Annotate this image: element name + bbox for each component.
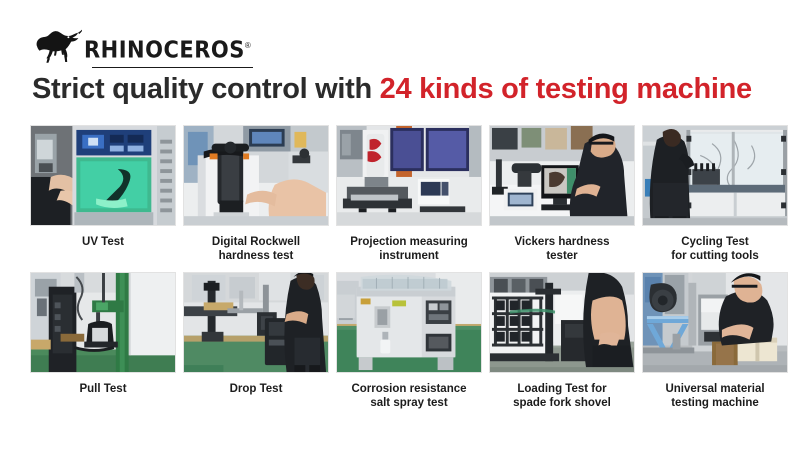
cycling-test-machine-photo [642, 125, 788, 226]
loading-test-rig-photo [489, 272, 635, 373]
grid-item-uv-test: UV Test [30, 125, 176, 263]
grid-item-caption: Vickers hardnesstester [487, 235, 637, 263]
vickers-hardness-tester-photo [489, 125, 635, 226]
pull-test-machine-photo [30, 272, 176, 373]
slide-root: RHINOCEROS® Strict quality control with … [0, 0, 800, 450]
grid-item-caption: Corrosion resistancesalt spray test [334, 382, 484, 410]
grid-item-universal: Universal materialtesting machine [642, 272, 788, 410]
brand-logo: RHINOCEROS® [30, 22, 251, 66]
grid-item-drop-test: Drop Test [183, 272, 329, 410]
grid-row: UV Test [30, 125, 774, 263]
universal-material-testing-machine-photo [642, 272, 788, 373]
grid-item-loading-test: Loading Test forspade fork shovel [489, 272, 635, 410]
logo-underline [92, 67, 253, 69]
grid-item-caption: Digital Rockwellhardness test [181, 235, 331, 263]
testing-machine-grid: UV Test [30, 125, 774, 410]
digital-rockwell-hardness-tester-photo [183, 125, 329, 226]
page-title: Strict quality control with 24 kinds of … [32, 72, 772, 106]
grid-item-vickers: Vickers hardnesstester [489, 125, 635, 263]
registered-mark: ® [245, 41, 251, 50]
grid-item-salt-spray: Corrosion resistancesalt spray test [336, 272, 482, 410]
grid-item-caption: Universal materialtesting machine [640, 382, 790, 410]
drop-test-machine-photo [183, 272, 329, 373]
grid-item-caption: Pull Test [28, 382, 178, 396]
grid-item-rockwell: Digital Rockwellhardness test [183, 125, 329, 263]
grid-item-caption: Cycling Testfor cutting tools [640, 235, 790, 263]
grid-item-caption: Drop Test [181, 382, 331, 396]
grid-row: Pull Test [30, 272, 774, 410]
grid-item-projection: Projection measuringinstrument [336, 125, 482, 263]
uv-test-chamber-photo [30, 125, 176, 226]
salt-spray-chamber-photo [336, 272, 482, 373]
grid-item-caption: Loading Test forspade fork shovel [487, 382, 637, 410]
grid-item-caption: Projection measuringinstrument [334, 235, 484, 263]
title-lead: Strict quality control with [32, 73, 380, 105]
grid-item-pull-test: Pull Test [30, 272, 176, 410]
brand-wordmark: RHINOCEROS® [84, 41, 251, 66]
grid-item-cycling: Cycling Testfor cutting tools [642, 125, 788, 263]
rhino-logo-icon [30, 26, 82, 66]
title-accent: 24 kinds of testing machine [380, 73, 752, 105]
projection-measuring-instrument-photo [336, 125, 482, 226]
grid-item-caption: UV Test [28, 235, 178, 249]
brand-name: RHINOCEROS [84, 38, 245, 62]
